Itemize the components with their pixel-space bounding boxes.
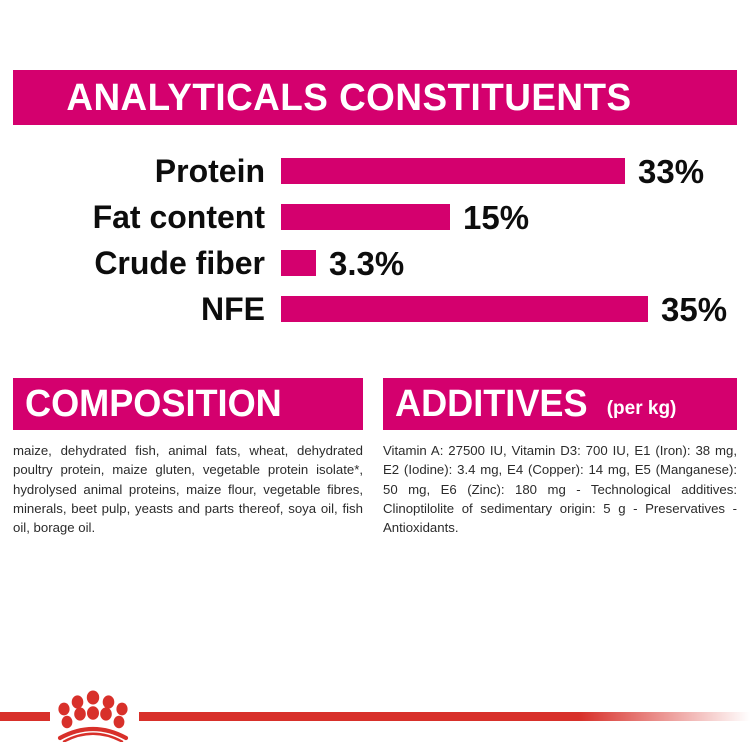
analyticals-constituents-banner: ANALYTICALS CONSTITUENTS bbox=[13, 70, 737, 125]
additives-section: ADDITIVES (per kg) Vitamin A: 27500 IU, … bbox=[383, 378, 737, 537]
chart-row-nfe: NFE 35% bbox=[0, 286, 750, 332]
chart-bar-group-nfe: 35% bbox=[281, 286, 727, 332]
chart-row-protein: Protein 33% bbox=[0, 148, 750, 194]
composition-title: COMPOSITION bbox=[25, 385, 282, 423]
additives-banner: ADDITIVES (per kg) bbox=[383, 378, 737, 430]
chart-bar-crude-fiber bbox=[281, 250, 316, 276]
chart-label-fat-content: Fat content bbox=[0, 201, 265, 233]
footer-rule-left bbox=[0, 712, 50, 721]
chart-label-protein: Protein bbox=[0, 155, 265, 187]
composition-body: maize, dehydrated fish, animal fats, whe… bbox=[13, 441, 363, 537]
composition-section: COMPOSITION maize, dehydrated fish, anim… bbox=[13, 378, 363, 537]
chart-label-nfe: NFE bbox=[0, 293, 265, 325]
analytical-constituents-chart: Protein 33% Fat content 15% Crude fiber … bbox=[0, 148, 750, 338]
chart-label-crude-fiber: Crude fiber bbox=[0, 247, 265, 279]
chart-row-fat-content: Fat content 15% bbox=[0, 194, 750, 240]
chart-bar-group-protein: 33% bbox=[281, 148, 704, 194]
chart-row-crude-fiber: Crude fiber 3.3% bbox=[0, 240, 750, 286]
chart-bar-protein bbox=[281, 158, 625, 184]
chart-bar-group-fat-content: 15% bbox=[281, 194, 529, 240]
chart-bar-nfe bbox=[281, 296, 648, 322]
composition-banner: COMPOSITION bbox=[13, 378, 363, 430]
royal-canin-crown-icon bbox=[55, 690, 131, 742]
analytical-constituents-panel: ANALYTICALS CONSTITUENTS Protein 33% Fat… bbox=[0, 0, 750, 750]
additives-body: Vitamin A: 27500 IU, Vitamin D3: 700 IU,… bbox=[383, 441, 737, 537]
chart-bar-group-crude-fiber: 3.3% bbox=[281, 240, 404, 286]
chart-value-fat-content: 15% bbox=[463, 201, 529, 234]
chart-bar-fat-content bbox=[281, 204, 450, 230]
page-title: ANALYTICALS CONSTITUENTS bbox=[13, 79, 632, 117]
footer-rule-right bbox=[139, 712, 750, 721]
additives-subtitle: (per kg) bbox=[607, 399, 677, 418]
chart-value-nfe: 35% bbox=[661, 293, 727, 326]
chart-value-crude-fiber: 3.3% bbox=[329, 247, 404, 280]
additives-title: ADDITIVES bbox=[395, 385, 588, 423]
chart-value-protein: 33% bbox=[638, 155, 704, 188]
footer-brand-bar bbox=[0, 690, 750, 750]
